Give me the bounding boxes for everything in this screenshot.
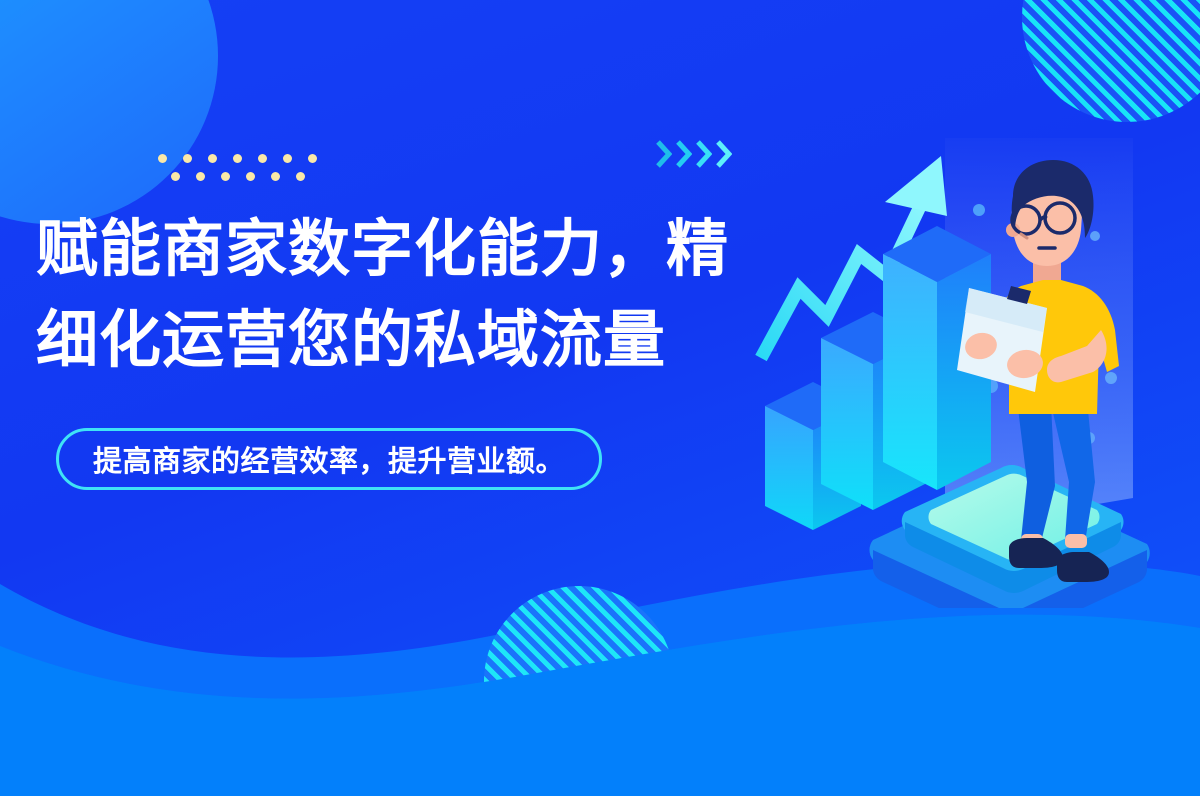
business-growth-illustration xyxy=(755,138,1200,608)
chevron-right-icon xyxy=(695,140,712,168)
dot xyxy=(233,154,242,163)
dot xyxy=(171,172,180,181)
subtitle-pill: 提高商家的经营效率，提升营业额。 xyxy=(56,428,602,490)
chevron-right-icon xyxy=(715,140,732,168)
subtitle-text: 提高商家的经营效率，提升营业额。 xyxy=(93,438,565,480)
chevron-right-icon xyxy=(675,140,692,168)
chevron-arrows xyxy=(655,140,735,168)
striped-circle-top-right-decor xyxy=(1022,0,1200,122)
dot xyxy=(308,154,317,163)
headline: 赋能商家数字化能力，精 细化运营您的私域流量 xyxy=(36,205,796,386)
dot xyxy=(196,172,205,181)
chevron-right-icon xyxy=(655,140,672,168)
dot xyxy=(296,172,305,181)
dot xyxy=(221,172,230,181)
marketing-banner: 赋能商家数字化能力，精 细化运营您的私域流量 提高商家的经营效率，提升营业额。 xyxy=(0,0,1200,796)
dot xyxy=(283,154,292,163)
dot xyxy=(208,154,217,163)
dot xyxy=(183,154,192,163)
dot xyxy=(258,154,267,163)
circle-top-left-decor xyxy=(0,0,218,224)
dot xyxy=(271,172,280,181)
dot xyxy=(246,172,255,181)
dot xyxy=(158,154,167,163)
